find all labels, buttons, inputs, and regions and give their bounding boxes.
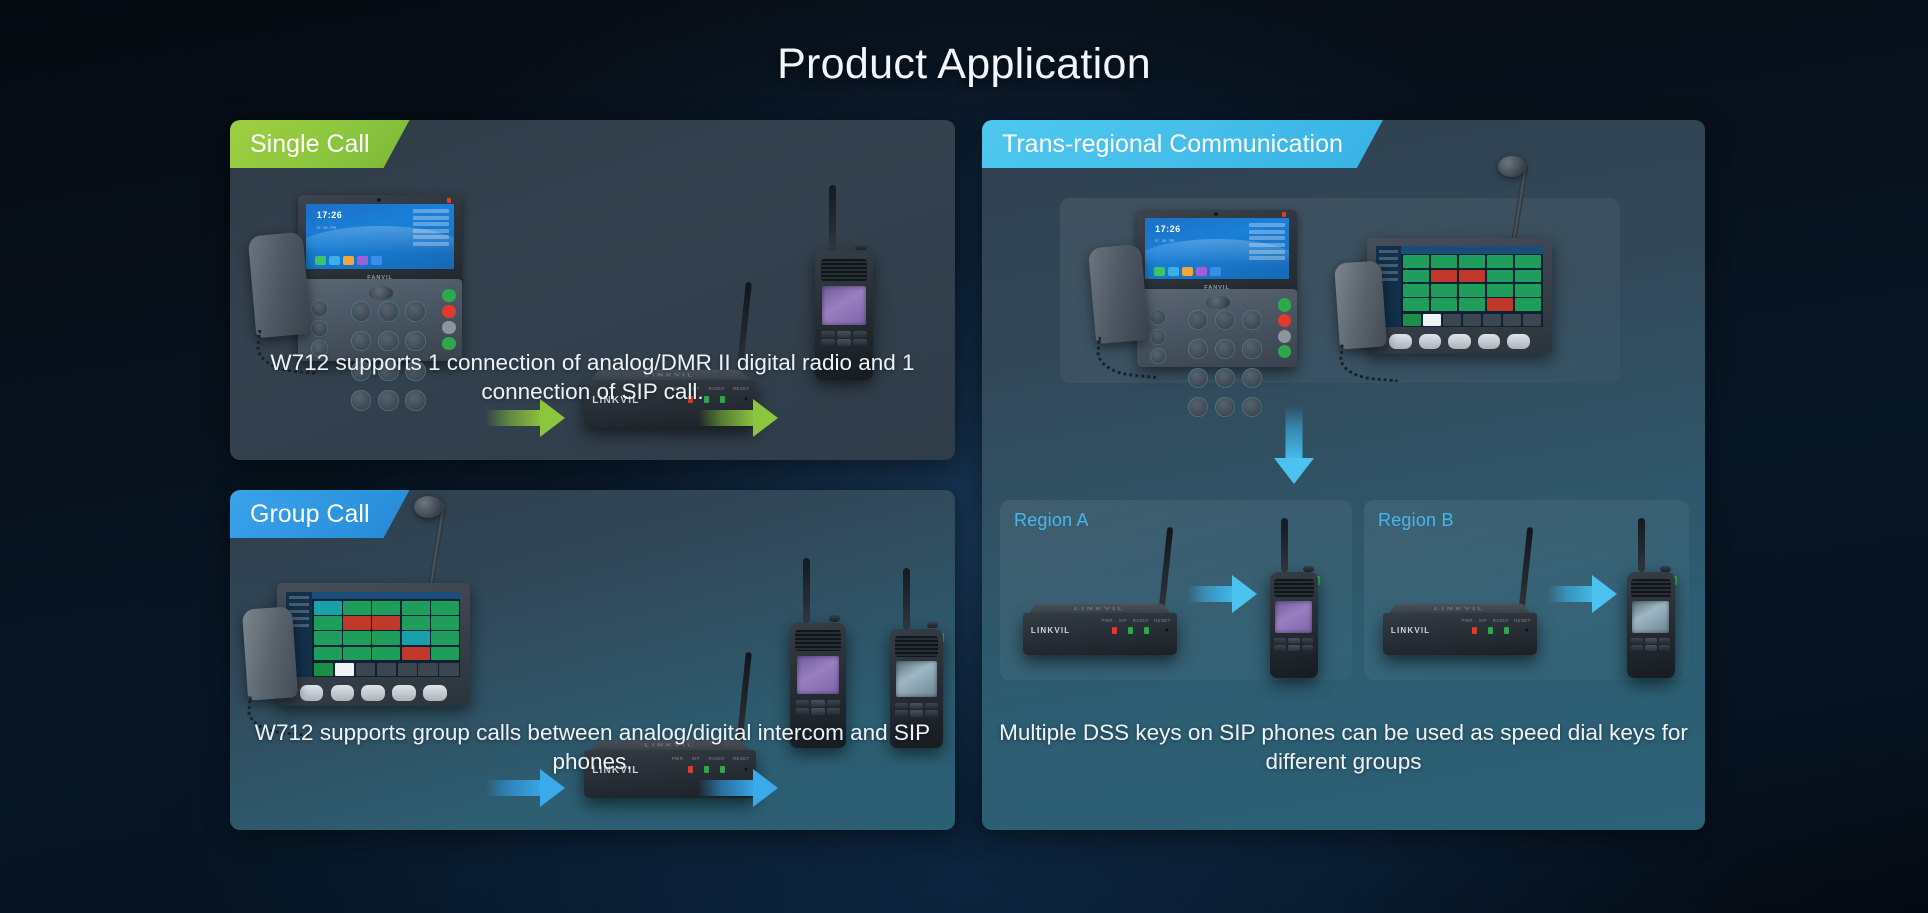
- screen-tabs: [312, 592, 460, 600]
- radio-screen: [896, 661, 936, 697]
- ribbon-single-call: Single Call: [230, 120, 410, 168]
- dss-key-grid: [1401, 254, 1542, 313]
- microphone-icon: [414, 496, 443, 519]
- arrow-down-cyan: [1270, 406, 1318, 484]
- radio-screen: [1632, 601, 1669, 633]
- ribbon-label: Group Call: [250, 500, 370, 529]
- reset-button[interactable]: [1165, 628, 1169, 632]
- region-a-label: Region A: [1014, 510, 1089, 531]
- caption-trans-regional: Multiple DSS keys on SIP phones can be u…: [982, 718, 1705, 776]
- device-dispatch-console: [1337, 212, 1552, 377]
- region-b-label: Region B: [1378, 510, 1454, 531]
- gateway-top-brand: LINKVIL: [1434, 606, 1487, 611]
- antenna-icon: [829, 185, 836, 251]
- arrow-right-cyan-b: [1547, 575, 1617, 613]
- handset-cord: [1094, 337, 1159, 380]
- radio-keypad: [895, 703, 937, 716]
- status-led-icon: [1282, 212, 1286, 217]
- device-ip-phone: 17:26 07 . 06 . FRI FANVIL: [252, 195, 462, 370]
- speaker-grille: [895, 636, 938, 656]
- call-control-keys: [1275, 298, 1294, 360]
- call-control-keys: [439, 289, 459, 353]
- screen-clock: 17:26: [1155, 224, 1181, 234]
- volume-knob[interactable]: [855, 244, 867, 251]
- panel-trans-regional: Trans-regional Communication 17:26 07 . …: [982, 120, 1705, 830]
- console-handset: [1334, 260, 1387, 349]
- phone-screen: 17:26 07 . 06 . FRI: [1145, 218, 1289, 279]
- camera-icon: [1214, 212, 1218, 216]
- device-ip-phone: 17:26 07 . 06 . FRI FANVIL: [1092, 210, 1297, 375]
- console-screen: [286, 592, 460, 678]
- gateway-brand-logo: LINKVIL: [1031, 626, 1071, 635]
- speaker-grille: [1631, 579, 1671, 597]
- arrow-right-cyan-a: [1187, 575, 1257, 613]
- console-hard-keys[interactable]: [1389, 334, 1530, 349]
- screen-date: 07 . 06 . FRI: [1155, 239, 1174, 243]
- phone-handset: [1088, 244, 1149, 344]
- volume-knob[interactable]: [1660, 566, 1670, 572]
- antenna-icon: [803, 558, 810, 623]
- device-handheld-radio-b: [1622, 518, 1680, 678]
- radio-body: [1627, 572, 1676, 678]
- screen-main: [312, 592, 460, 678]
- page-title: Product Application: [0, 40, 1928, 89]
- product-application-slide: Product Application Single Call 17:26 07…: [0, 0, 1928, 913]
- ribbon-label: Single Call: [250, 130, 370, 159]
- speaker-grille: [795, 630, 840, 651]
- screen-clock: 17:26: [317, 210, 343, 220]
- radio-keypad: [1631, 638, 1670, 650]
- radio-keypad: [1274, 638, 1313, 650]
- screen-dss-keys: [1249, 223, 1285, 263]
- console-handset: [242, 606, 298, 700]
- panel-group-call: Group Call: [230, 490, 955, 830]
- device-handheld-radio-a: [1265, 518, 1323, 678]
- phone-screen-housing: 17:26 07 . 06 . FRI FANVIL: [1137, 210, 1297, 293]
- antenna-icon: [1638, 518, 1645, 572]
- screen-bottom-bar: [312, 662, 460, 677]
- ribbon-trans-regional: Trans-regional Communication: [982, 120, 1383, 168]
- status-led-icon: [447, 198, 451, 203]
- gateway-top-brand: LINKVIL: [1074, 606, 1127, 611]
- volume-knob[interactable]: [927, 622, 938, 628]
- gateway-led-labels: PWR SIP RADIO RESET: [1102, 618, 1171, 623]
- navigation-pad: [369, 286, 394, 299]
- gateway-led-labels: PWR SIP RADIO RESET: [1462, 618, 1531, 623]
- antenna-icon: [1281, 518, 1288, 572]
- screen-date: 07 . 06 . FRI: [317, 226, 336, 230]
- screen-bottom-bar: [1401, 313, 1542, 328]
- ribbon-label: Trans-regional Communication: [1002, 130, 1343, 159]
- reset-button[interactable]: [1525, 628, 1529, 632]
- gateway-led-indicators: [1472, 627, 1509, 634]
- ribbon-group-call: Group Call: [230, 490, 410, 538]
- console-screen: [1376, 246, 1542, 327]
- console-body: [277, 583, 471, 706]
- gateway-front-face: LINKVIL PWR SIP RADIO RESET: [1383, 613, 1537, 655]
- speaker-grille: [821, 259, 868, 281]
- camera-icon: [377, 198, 381, 202]
- device-linkvil-gateway-a: LINKVIL LINKVIL PWR SIP RADIO RESET: [1020, 565, 1180, 670]
- phone-screen-housing: 17:26 07 . 06 . FRI FANVIL: [298, 195, 462, 283]
- antenna-icon: [903, 568, 910, 629]
- phone-keypad-base: [1137, 289, 1297, 367]
- dial-keypad: [1188, 310, 1262, 390]
- radio-screen: [1275, 601, 1312, 633]
- console-body: [1367, 238, 1552, 354]
- volume-knob[interactable]: [1303, 566, 1313, 572]
- gateway-led-indicators: [1112, 627, 1149, 634]
- phone-screen: 17:26 07 . 06 . FRI: [306, 204, 453, 269]
- phone-handset: [248, 231, 311, 337]
- screen-app-icons: [315, 256, 382, 265]
- navigation-pad: [1206, 296, 1230, 308]
- device-linkvil-gateway-b: LINKVIL LINKVIL PWR SIP RADIO RESET: [1380, 565, 1540, 670]
- screen-app-icons: [1154, 267, 1221, 276]
- caption-single-call: W712 supports 1 connection of analog/DMR…: [230, 348, 955, 406]
- console-hard-keys[interactable]: [300, 685, 447, 701]
- volume-knob[interactable]: [829, 615, 841, 622]
- screen-dss-keys: [413, 209, 450, 249]
- gateway-brand-logo: LINKVIL: [1391, 626, 1431, 635]
- radio-body: [1270, 572, 1319, 678]
- radio-screen: [797, 656, 839, 694]
- caption-group-call: W712 supports group calls between analog…: [230, 718, 955, 776]
- device-dispatch-console: [245, 555, 470, 730]
- radio-keypad: [796, 700, 840, 714]
- radio-keypad: [821, 331, 867, 345]
- speaker-grille: [1274, 579, 1314, 597]
- dss-key-grid: [312, 599, 460, 662]
- gateway-front-face: LINKVIL PWR SIP RADIO RESET: [1023, 613, 1177, 655]
- screen-main: [1401, 246, 1542, 327]
- screen-tabs: [1401, 246, 1542, 253]
- panel-single-call: Single Call 17:26 07 . 06 . FRI: [230, 120, 955, 460]
- radio-screen: [822, 286, 865, 325]
